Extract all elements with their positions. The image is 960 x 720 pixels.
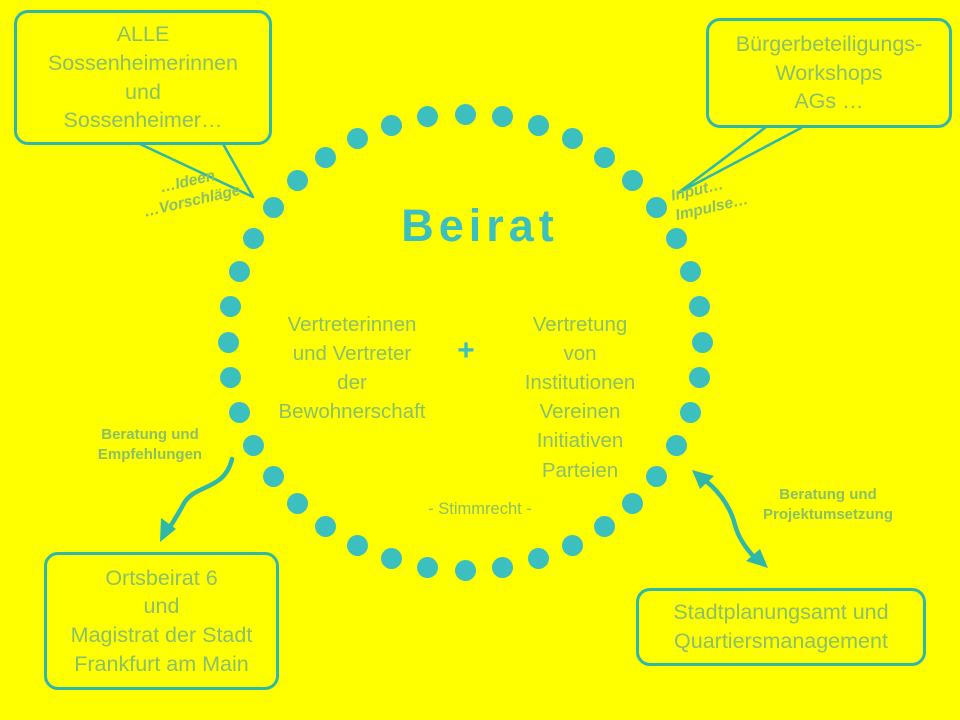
diagram-canvas: ALLE Sossenheimerinnen und Sossenheimer…… <box>0 0 960 720</box>
circle-dot <box>229 261 250 282</box>
circle-dot <box>218 332 239 353</box>
circle-dot <box>680 261 701 282</box>
plus-icon: + <box>442 310 490 366</box>
bubble-alle-sossenheimer[interactable]: ALLE Sossenheimerinnen und Sossenheimer… <box>14 10 272 145</box>
circle-dot <box>622 170 643 191</box>
circle-dot <box>347 128 368 149</box>
circle-dot <box>220 296 241 317</box>
circle-dot <box>287 170 308 191</box>
circle-dot <box>689 296 710 317</box>
bubble-ortsbeirat-magistrat[interactable]: Ortsbeirat 6 und Magistrat der Stadt Fra… <box>44 552 279 690</box>
circle-dot <box>562 128 583 149</box>
footnote-stimmrecht: - Stimmrecht - <box>0 500 960 519</box>
circle-dot <box>417 557 438 578</box>
circle-dot <box>594 516 615 537</box>
circle-dot <box>528 548 549 569</box>
circle-dot <box>347 535 368 556</box>
bubble-stadtplanungsamt-quartiersmanagement[interactable]: Stadtplanungsamt und Quartiersmanagement <box>636 588 926 666</box>
label-beratung-empfehlungen: Beratung und Empfehlungen <box>66 425 234 466</box>
column-vertretung-institutionen: Vertretung von Institutionen Vereinen In… <box>490 310 670 485</box>
circle-dot <box>562 535 583 556</box>
bubble-buergerbeteiligungs-workshops[interactable]: Bürgerbeteiligungs- Workshops AGs … <box>706 18 952 128</box>
beirat-composition: Vertreterinnen und Vertreter der Bewohne… <box>246 310 686 485</box>
circle-dot <box>455 104 476 125</box>
circle-dot <box>417 106 438 127</box>
circle-dot <box>528 115 549 136</box>
circle-dot <box>381 115 402 136</box>
circle-dot <box>381 548 402 569</box>
circle-dot <box>455 560 476 581</box>
circle-dot <box>492 106 513 127</box>
circle-dot <box>220 367 241 388</box>
circle-dot <box>689 367 710 388</box>
page-title-beirat: Beirat <box>0 200 960 252</box>
circle-dot <box>692 332 713 353</box>
circle-dot <box>315 516 336 537</box>
circle-dot <box>492 557 513 578</box>
column-vertreterinnen-bewohnerschaft: Vertreterinnen und Vertreter der Bewohne… <box>262 310 442 426</box>
circle-dot <box>315 147 336 168</box>
circle-dot <box>594 147 615 168</box>
